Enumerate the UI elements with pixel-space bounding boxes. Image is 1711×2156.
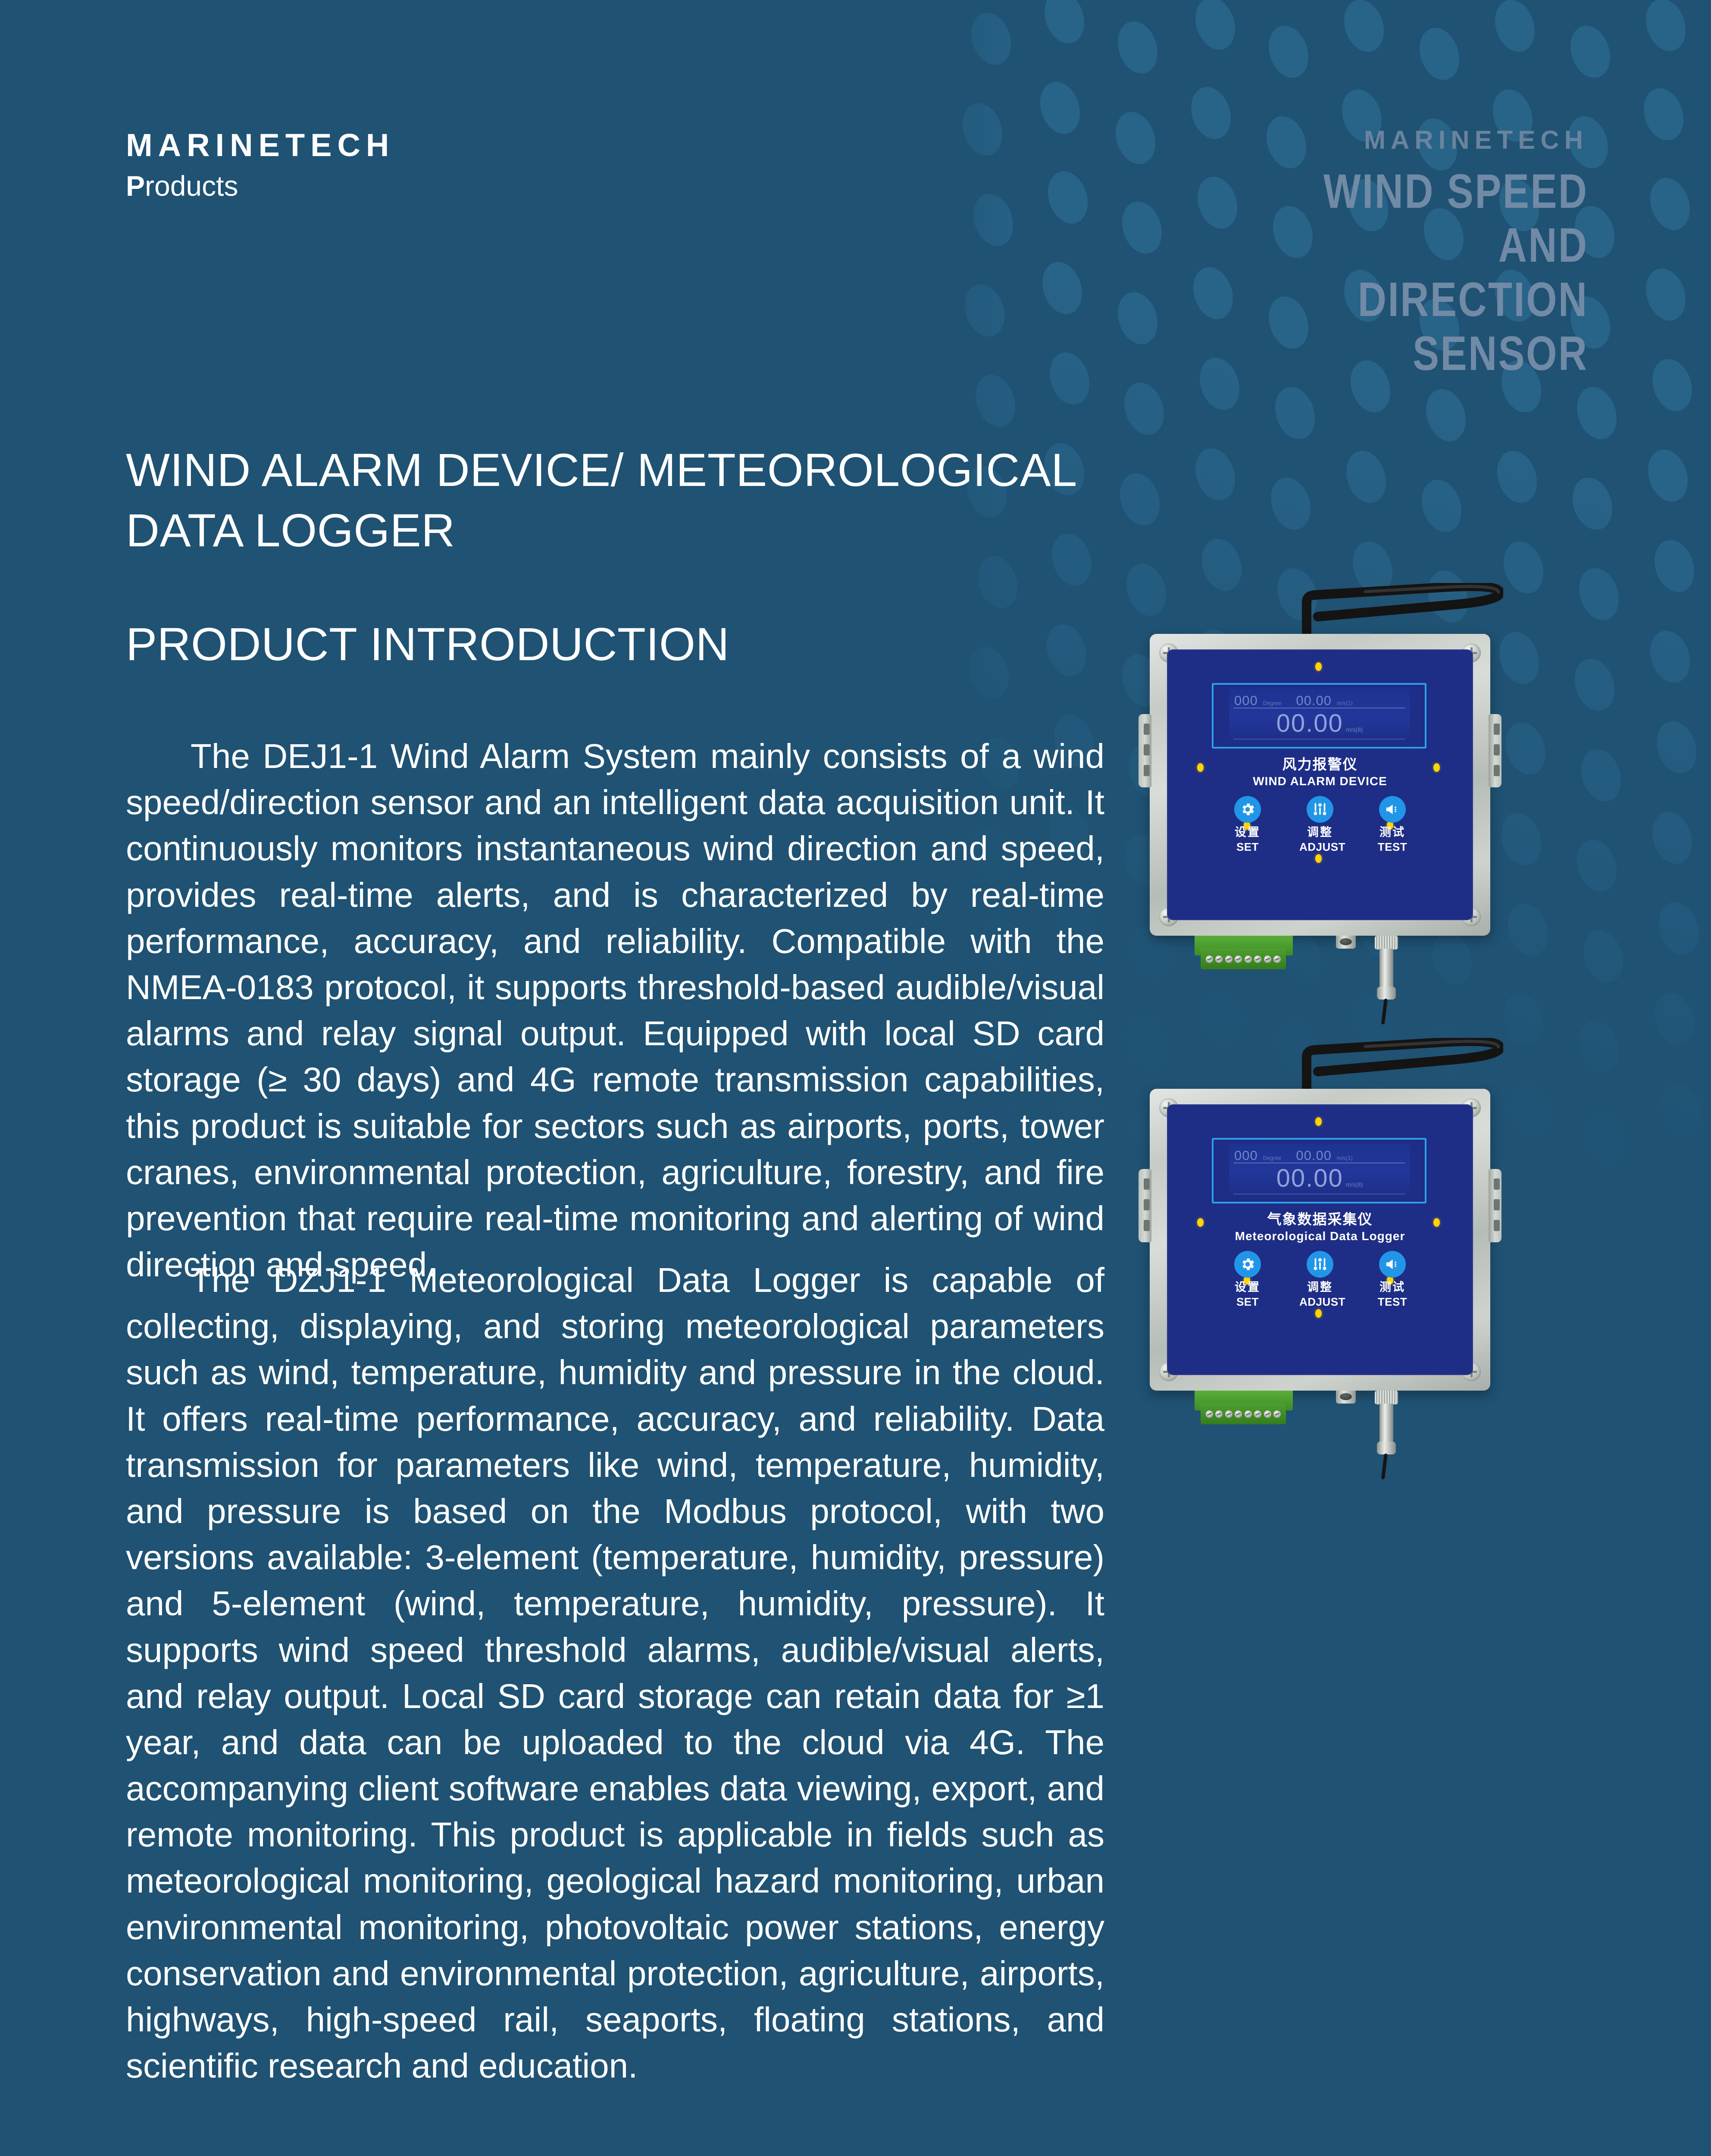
lcd-top-row: 000 Degree 00.00 m/s(1) [1234, 1148, 1406, 1161]
device-button-adjust-label-cn: 调整 [1299, 1282, 1341, 1293]
brand-subtitle-initial: P [126, 170, 145, 202]
terminal-screw-icon [1215, 1410, 1223, 1418]
lcd-speed-value: 00.00 [1296, 693, 1332, 708]
terminal-screw-icon [1245, 1410, 1252, 1418]
device-button-adjust[interactable]: 调整 ADJUST [1299, 1251, 1341, 1307]
connector-body [1379, 949, 1393, 988]
paragraph-wind-alarm-system: The DEJ1-1 Wind Alarm System mainly cons… [126, 733, 1104, 1288]
device-button-adjust[interactable]: 调整 ADJUST [1299, 796, 1341, 852]
hero-line-3: DIRECTION [1323, 273, 1588, 326]
device-button-adjust-label-en: ADJUST [1299, 841, 1341, 852]
speaker-icon [1379, 1251, 1406, 1278]
terminal-screw-icon [1254, 1410, 1261, 1418]
device-name-english: WIND ALARM DEVICE [1167, 775, 1473, 787]
device-button-test-label-en: TEST [1372, 1296, 1413, 1307]
brochure-page: MARINETECH Products MARINETECH WIND SPEE… [0, 0, 1711, 2156]
lcd-bezel: 000 Degree 00.00 m/s(1) 00.00m/s(8) [1212, 1138, 1426, 1203]
device-housing: 000 Degree 00.00 m/s(1) 00.00m/s(8) 风力报警… [1150, 634, 1490, 936]
device-button-set[interactable]: 设置 SET [1227, 1251, 1268, 1307]
sliders-icon [1307, 1251, 1333, 1278]
lcd-speed-value: 00.00 [1296, 1148, 1332, 1163]
brand-logo: MARINETECH [126, 129, 394, 161]
brand-subtitle: Products [126, 172, 394, 200]
terminal-screw-icon [1215, 956, 1223, 963]
hero-line-2: AND [1323, 218, 1588, 272]
lcd-main-value: 00.00 [1276, 1164, 1343, 1192]
device-button-test-label-cn: 测试 [1372, 1282, 1413, 1293]
gear-icon [1234, 796, 1261, 823]
terminal-screw-icon [1273, 1410, 1281, 1418]
device-button-set[interactable]: 设置 SET [1227, 796, 1268, 852]
lcd-direction-unit: Degree [1263, 1155, 1282, 1161]
terminal-screw-icon [1206, 1410, 1213, 1418]
led-indicator [1315, 854, 1322, 863]
lcd-bezel: 000 Degree 00.00 m/s(1) 00.00m/s(8) [1212, 683, 1426, 749]
lcd-main-row: 00.00m/s(8) [1229, 1166, 1410, 1191]
device-button-test-label-en: TEST [1372, 841, 1413, 852]
cable-gland-port [1336, 936, 1356, 949]
device-button-test-label-cn: 测试 [1372, 827, 1413, 838]
terminal-screw-icon [1235, 1410, 1242, 1418]
sliders-icon [1307, 796, 1333, 823]
hero-line-1: WIND SPEED [1323, 164, 1588, 218]
device-button-adjust-label-en: ADJUST [1299, 1296, 1341, 1307]
gear-icon [1234, 1251, 1261, 1278]
terminal-screw-icon [1245, 956, 1252, 963]
device-name-english: Meteorological Data Logger [1167, 1230, 1473, 1242]
section-heading-product-introduction: PRODUCT INTRODUCTION [126, 621, 729, 667]
lcd-screen: 000 Degree 00.00 m/s(1) 00.00m/s(8) [1229, 1144, 1410, 1200]
connector-body [1379, 1404, 1393, 1443]
mounting-lug-left [1139, 714, 1151, 787]
device-button-row: 设置 SET 调整 ADJUST [1167, 796, 1473, 852]
brand-subtitle-rest: roducts [145, 170, 238, 202]
device-name-chinese: 气象数据采集仪 [1167, 1212, 1473, 1226]
cable-gland-port [1336, 1391, 1356, 1404]
antenna-icon [1301, 1038, 1503, 1094]
connector-cable [1381, 1454, 1388, 1480]
terminal-screw-icon [1264, 956, 1271, 963]
lcd-main-unit: m/s(8) [1346, 1181, 1363, 1188]
lcd-divider [1233, 708, 1405, 708]
aviation-connector [1373, 1391, 1400, 1479]
terminal-screw-icon [1235, 956, 1242, 963]
device-button-set-label-en: SET [1227, 841, 1268, 852]
page-title: WIND ALARM DEVICE/ METEOROLOGICAL DATA L… [126, 440, 1160, 561]
lcd-top-row: 000 Degree 00.00 m/s(1) [1234, 693, 1406, 706]
device-name-chinese: 风力报警仪 [1167, 757, 1473, 771]
terminal-screw-icon [1206, 956, 1213, 963]
device-button-set-label-cn: 设置 [1227, 827, 1268, 838]
terminal-screw-icon [1225, 1410, 1232, 1418]
device-button-test[interactable]: 测试 TEST [1372, 796, 1413, 852]
antenna-icon [1301, 583, 1503, 639]
lcd-main-unit: m/s(8) [1346, 726, 1363, 733]
hero-watermark-block: MARINETECH WIND SPEED AND DIRECTION SENS… [1265, 127, 1588, 381]
product-photo-wind-alarm-device: 000 Degree 00.00 m/s(1) 00.00m/s(8) 风力报警… [1150, 634, 1490, 936]
connector-strain-relief [1377, 987, 1396, 1000]
hero-line-4: SENSOR [1323, 326, 1588, 380]
device-button-set-label-en: SET [1227, 1296, 1268, 1307]
device-faceplate: 000 Degree 00.00 m/s(1) 00.00m/s(8) 气象数据… [1167, 1104, 1473, 1375]
terminal-screw-icon [1273, 956, 1281, 963]
connector-strain-relief [1377, 1442, 1396, 1454]
connector-knurled-nut [1375, 936, 1398, 950]
device-bottom-hardware [1150, 936, 1490, 1035]
lcd-direction-value: 000 [1234, 1148, 1258, 1163]
device-bottom-hardware [1150, 1391, 1490, 1490]
mounting-lug-right [1489, 714, 1501, 787]
lcd-screen: 000 Degree 00.00 m/s(1) 00.00m/s(8) [1229, 689, 1410, 746]
lcd-divider-bottom [1233, 1194, 1405, 1194]
terminal-screw-icon [1264, 1410, 1271, 1418]
device-button-test[interactable]: 测试 TEST [1372, 1251, 1413, 1307]
terminal-block [1201, 1404, 1286, 1424]
lcd-main-value: 00.00 [1276, 709, 1343, 737]
connector-cable [1381, 999, 1388, 1025]
device-button-set-label-cn: 设置 [1227, 1282, 1268, 1293]
led-indicator [1315, 1117, 1322, 1126]
mounting-lug-left [1139, 1169, 1151, 1242]
paragraph-meteorological-data-logger: The DZJ1-1 Meteorological Data Logger is… [126, 1257, 1104, 2089]
lcd-direction-value: 000 [1234, 693, 1258, 708]
device-faceplate: 000 Degree 00.00 m/s(1) 00.00m/s(8) 风力报警… [1167, 649, 1473, 920]
connector-knurled-nut [1375, 1391, 1398, 1404]
terminal-screw-icon [1225, 956, 1232, 963]
led-indicator [1315, 662, 1322, 671]
terminal-block [1201, 949, 1286, 969]
lcd-divider-bottom [1233, 739, 1405, 740]
speaker-icon [1379, 796, 1406, 823]
lcd-divider [1233, 1163, 1405, 1163]
mounting-lug-right [1489, 1169, 1501, 1242]
device-housing: 000 Degree 00.00 m/s(1) 00.00m/s(8) 气象数据… [1150, 1089, 1490, 1391]
product-photo-meteorological-data-logger: 000 Degree 00.00 m/s(1) 00.00m/s(8) 气象数据… [1150, 1089, 1490, 1391]
lcd-direction-unit: Degree [1263, 700, 1282, 706]
led-indicator [1315, 1309, 1322, 1318]
paragraph-block-2: The DZJ1-1 Meteorological Data Logger is… [126, 1257, 1104, 2089]
lcd-main-row: 00.00m/s(8) [1229, 711, 1410, 736]
brand-block: MARINETECH Products [126, 129, 394, 200]
paragraph-block-1: The DEJ1-1 Wind Alarm System mainly cons… [126, 733, 1104, 1288]
device-button-adjust-label-cn: 调整 [1299, 827, 1341, 838]
lcd-speed-unit: m/s(1) [1337, 1155, 1353, 1161]
hero-brand-logo: MARINETECH [1265, 127, 1588, 153]
aviation-connector [1373, 936, 1400, 1024]
device-button-row: 设置 SET 调整 ADJUST [1167, 1251, 1473, 1307]
terminal-screw-icon [1254, 956, 1261, 963]
lcd-speed-unit: m/s(1) [1337, 700, 1353, 706]
